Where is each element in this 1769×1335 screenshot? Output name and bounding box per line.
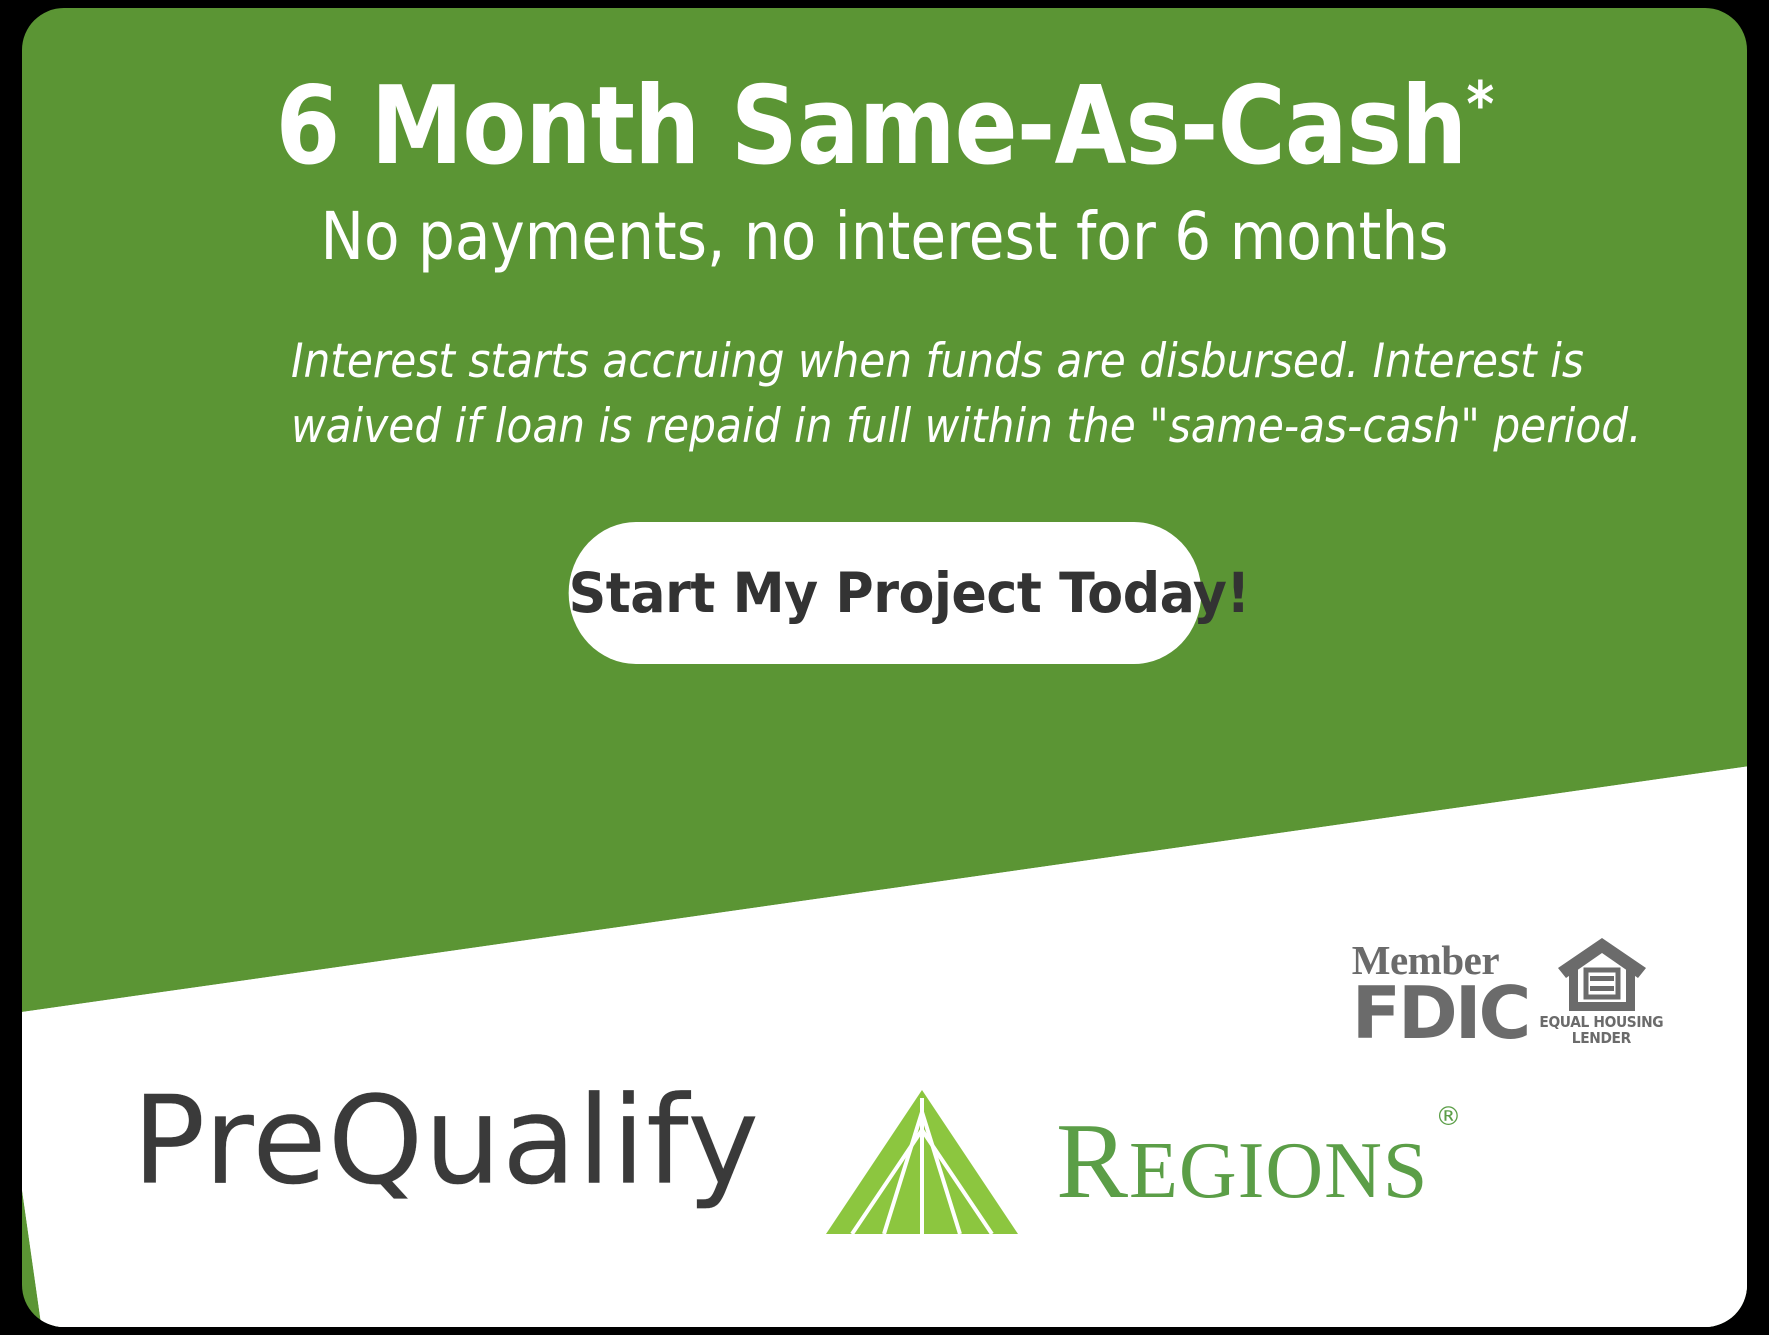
- cta-container: Start My Project Today!: [22, 522, 1747, 664]
- fdic-label: FDIC: [1352, 977, 1529, 1049]
- start-my-project-button[interactable]: Start My Project Today!: [568, 522, 1201, 664]
- house-icon: [1556, 936, 1648, 1014]
- prequalify-logo: PreQualify: [132, 1080, 760, 1202]
- registered-trademark-icon: ®: [1435, 1104, 1462, 1130]
- regions-wordmark: REGIONS®: [1056, 1108, 1428, 1216]
- page-title: 6 Month Same-As-Cash*: [143, 8, 1627, 183]
- disclaimer-line-2: waived if loan is repaid in full within …: [291, 395, 1479, 460]
- equal-housing-lender-caption: EQUAL HOUSING LENDER: [1540, 1015, 1664, 1047]
- headline-text: 6 Month Same-As-Cash: [276, 64, 1467, 189]
- ehl-line-2: LENDER: [1572, 1029, 1631, 1047]
- regions-pyramid-icon: [822, 1086, 1022, 1238]
- regions-wordmark-initial: R: [1056, 1102, 1129, 1221]
- disclaimer-text: Interest starts accruing when funds are …: [291, 274, 1479, 460]
- fdic-equal-housing-block: Member FDIC: [1352, 936, 1669, 1049]
- equal-housing-lender-logo: EQUAL HOUSING LENDER: [1534, 936, 1669, 1047]
- disclaimer-line-1: Interest starts accruing when funds are …: [291, 330, 1479, 395]
- subheadline: No payments, no interest for 6 months: [126, 183, 1644, 274]
- regions-wordmark-rest: EGIONS: [1129, 1127, 1428, 1215]
- regions-logo-lockup: REGIONS®: [822, 1086, 1428, 1238]
- hero-content: 6 Month Same-As-Cash* No payments, no in…: [22, 8, 1747, 664]
- fdic-text: Member FDIC: [1352, 940, 1529, 1049]
- footnote-asterisk: *: [1466, 68, 1493, 141]
- promotional-card: 6 Month Same-As-Cash* No payments, no in…: [22, 8, 1747, 1327]
- ad-frame: 6 Month Same-As-Cash* No payments, no in…: [0, 0, 1769, 1335]
